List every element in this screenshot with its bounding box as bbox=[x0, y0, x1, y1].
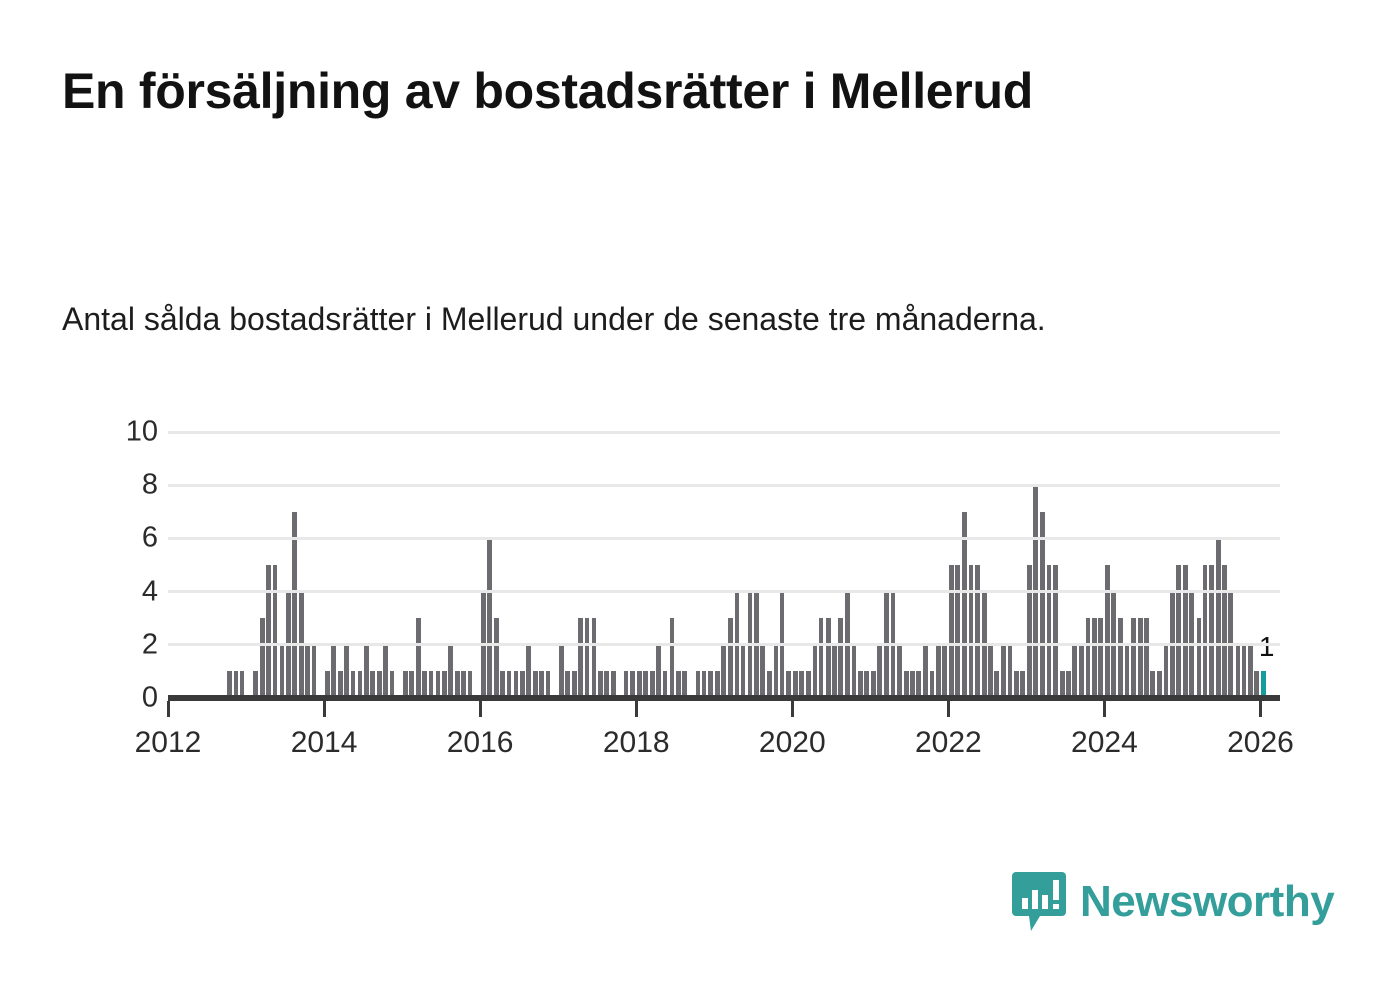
bar bbox=[312, 645, 317, 698]
bar bbox=[858, 671, 863, 698]
bar bbox=[1228, 592, 1233, 698]
gridline bbox=[168, 484, 1280, 487]
bar bbox=[338, 671, 343, 698]
bar bbox=[650, 671, 655, 698]
bar bbox=[930, 671, 935, 698]
bar-chart-speech-bubble-icon bbox=[1012, 872, 1066, 932]
x-axis-tick bbox=[635, 701, 638, 717]
bar bbox=[559, 645, 564, 698]
bar bbox=[845, 592, 850, 698]
bar bbox=[826, 618, 831, 698]
bar bbox=[682, 671, 687, 698]
bar bbox=[852, 645, 857, 698]
bar bbox=[1157, 671, 1162, 698]
x-axis-tick-label: 2020 bbox=[759, 728, 826, 758]
bar bbox=[507, 671, 512, 698]
bar bbox=[409, 671, 414, 698]
bar bbox=[273, 565, 278, 698]
bar bbox=[358, 671, 363, 698]
y-axis-tick-label: 2 bbox=[88, 630, 158, 659]
bar bbox=[370, 671, 375, 698]
bar bbox=[299, 592, 304, 698]
bar bbox=[910, 671, 915, 698]
bar bbox=[260, 618, 265, 698]
x-axis-tick bbox=[167, 701, 170, 717]
bar bbox=[514, 671, 519, 698]
bar bbox=[305, 645, 310, 698]
bar bbox=[748, 592, 753, 698]
x-axis-tick-label: 2024 bbox=[1071, 728, 1138, 758]
bar bbox=[546, 671, 551, 698]
bar bbox=[663, 671, 668, 698]
bar bbox=[637, 671, 642, 698]
bar bbox=[572, 671, 577, 698]
bar bbox=[1144, 618, 1149, 698]
bar-highlighted bbox=[1261, 671, 1266, 698]
bar bbox=[234, 671, 239, 698]
bar bbox=[676, 671, 681, 698]
bar bbox=[806, 671, 811, 698]
bar bbox=[643, 671, 648, 698]
bar bbox=[253, 671, 258, 698]
x-axis-tick bbox=[323, 701, 326, 717]
gridline bbox=[168, 590, 1280, 593]
bar bbox=[1138, 618, 1143, 698]
bar bbox=[461, 671, 466, 698]
bar bbox=[774, 645, 779, 698]
bar bbox=[390, 671, 395, 698]
bar bbox=[1170, 592, 1175, 698]
page-title: En försäljning av bostadsrätter i Meller… bbox=[62, 62, 1132, 121]
bar bbox=[442, 671, 447, 698]
x-axis-tick bbox=[947, 701, 950, 717]
bar bbox=[1131, 618, 1136, 698]
bar bbox=[280, 645, 285, 698]
x-axis-tick-label: 2026 bbox=[1227, 728, 1294, 758]
bar bbox=[487, 538, 492, 698]
x-axis-tick bbox=[1259, 701, 1262, 717]
bar bbox=[227, 671, 232, 698]
bar bbox=[871, 671, 876, 698]
bar bbox=[994, 671, 999, 698]
x-axis-tick bbox=[791, 701, 794, 717]
bar bbox=[1105, 565, 1110, 698]
bar bbox=[702, 671, 707, 698]
bar bbox=[481, 592, 486, 698]
bar bbox=[500, 671, 505, 698]
bar bbox=[916, 671, 921, 698]
bar bbox=[656, 645, 661, 698]
bar bbox=[1183, 565, 1188, 698]
bar bbox=[429, 671, 434, 698]
bar bbox=[838, 618, 843, 698]
bar bbox=[1066, 671, 1071, 698]
x-axis-tick-label: 2014 bbox=[291, 728, 358, 758]
bar bbox=[468, 671, 473, 698]
bar bbox=[1189, 592, 1194, 698]
plot-area: 1 02468102012201420162018202020222024202… bbox=[168, 432, 1280, 698]
bar bbox=[754, 592, 759, 698]
y-axis-tick-label: 10 bbox=[88, 418, 158, 447]
bar bbox=[1008, 645, 1013, 698]
logo-wordmark: Newsworthy bbox=[1080, 880, 1334, 924]
bar bbox=[383, 645, 388, 698]
x-axis-tick bbox=[479, 701, 482, 717]
bar bbox=[897, 645, 902, 698]
bar bbox=[448, 645, 453, 698]
bar bbox=[1060, 671, 1065, 698]
bar bbox=[1086, 618, 1091, 698]
bar bbox=[1027, 565, 1032, 698]
bar bbox=[520, 671, 525, 698]
gridline bbox=[168, 537, 1280, 540]
bar bbox=[949, 565, 954, 698]
bar bbox=[864, 671, 869, 698]
bar bbox=[351, 671, 356, 698]
bar bbox=[962, 512, 967, 698]
bar bbox=[1150, 671, 1155, 698]
bar bbox=[325, 671, 330, 698]
page-subtitle: Antal sålda bostadsrätter i Mellerud und… bbox=[62, 298, 1307, 340]
bar bbox=[1164, 645, 1169, 698]
bar bbox=[988, 645, 993, 698]
bar bbox=[1047, 565, 1052, 698]
bar bbox=[416, 618, 421, 698]
bar bbox=[1111, 592, 1116, 698]
bar bbox=[819, 618, 824, 698]
bar bbox=[1216, 538, 1221, 698]
y-axis-tick-label: 4 bbox=[88, 577, 158, 606]
bar bbox=[403, 671, 408, 698]
bar-series: 1 bbox=[168, 432, 1280, 698]
bar bbox=[975, 565, 980, 698]
bar bbox=[266, 565, 271, 698]
bar bbox=[877, 645, 882, 698]
bar bbox=[741, 645, 746, 698]
y-axis-tick-label: 6 bbox=[88, 524, 158, 553]
bar bbox=[715, 671, 720, 698]
bar bbox=[891, 592, 896, 698]
bar bbox=[923, 645, 928, 698]
bar bbox=[786, 671, 791, 698]
bar bbox=[1079, 645, 1084, 698]
bar bbox=[1053, 565, 1058, 698]
bar bbox=[526, 645, 531, 698]
bar bbox=[813, 645, 818, 698]
bar-chart: 1 02468102012201420162018202020222024202… bbox=[0, 0, 1382, 999]
bar bbox=[1222, 565, 1227, 698]
bar bbox=[455, 671, 460, 698]
bar bbox=[377, 671, 382, 698]
bar bbox=[240, 671, 245, 698]
bar bbox=[630, 671, 635, 698]
bar bbox=[942, 645, 947, 698]
x-axis-tick-label: 2012 bbox=[135, 728, 202, 758]
bar bbox=[344, 645, 349, 698]
bar bbox=[592, 618, 597, 698]
x-axis-tick-label: 2018 bbox=[603, 728, 670, 758]
bar bbox=[364, 645, 369, 698]
bar bbox=[565, 671, 570, 698]
bar bbox=[292, 512, 297, 698]
bar bbox=[494, 618, 499, 698]
bar bbox=[735, 592, 740, 698]
bar-value-label: 1 bbox=[1259, 633, 1275, 661]
bar bbox=[1236, 645, 1241, 698]
bar bbox=[793, 671, 798, 698]
bar bbox=[670, 618, 675, 698]
bar bbox=[598, 671, 603, 698]
bar bbox=[1020, 671, 1025, 698]
bar bbox=[1098, 618, 1103, 698]
x-axis-tick-label: 2022 bbox=[915, 728, 982, 758]
bar bbox=[331, 645, 336, 698]
bar bbox=[969, 565, 974, 698]
bar bbox=[624, 671, 629, 698]
bar bbox=[936, 645, 941, 698]
bar bbox=[780, 592, 785, 698]
bar bbox=[832, 645, 837, 698]
bar bbox=[1092, 618, 1097, 698]
x-axis-line bbox=[168, 695, 1280, 701]
bar bbox=[1248, 645, 1253, 698]
bar bbox=[904, 671, 909, 698]
bar bbox=[1197, 618, 1202, 698]
bar bbox=[1203, 565, 1208, 698]
bar bbox=[1040, 512, 1045, 698]
bar bbox=[533, 671, 538, 698]
gridline bbox=[168, 643, 1280, 646]
bar bbox=[1254, 671, 1259, 698]
newsworthy-logo: Newsworthy bbox=[1012, 872, 1334, 932]
bar bbox=[1014, 671, 1019, 698]
y-axis-tick-label: 0 bbox=[88, 684, 158, 713]
bar bbox=[767, 671, 772, 698]
y-axis-tick-label: 8 bbox=[88, 471, 158, 500]
bar bbox=[1072, 645, 1077, 698]
bar bbox=[1176, 565, 1181, 698]
bar bbox=[1001, 645, 1006, 698]
bar bbox=[982, 592, 987, 698]
x-axis-tick-label: 2016 bbox=[447, 728, 514, 758]
bar bbox=[1209, 565, 1214, 698]
bar bbox=[539, 671, 544, 698]
bar bbox=[1125, 645, 1130, 698]
bar bbox=[721, 645, 726, 698]
bar bbox=[799, 671, 804, 698]
bar bbox=[1242, 645, 1247, 698]
bar bbox=[884, 592, 889, 698]
x-axis-tick bbox=[1103, 701, 1106, 717]
bar bbox=[955, 565, 960, 698]
bar bbox=[611, 671, 616, 698]
infographic-page: En försäljning av bostadsrätter i Meller… bbox=[0, 0, 1382, 999]
bar bbox=[436, 671, 441, 698]
bar bbox=[1033, 485, 1038, 698]
bar bbox=[696, 671, 701, 698]
bar bbox=[585, 618, 590, 698]
gridline bbox=[168, 431, 1280, 434]
bar bbox=[422, 671, 427, 698]
bar bbox=[286, 592, 291, 698]
bar bbox=[1118, 618, 1123, 698]
bar bbox=[604, 671, 609, 698]
bar bbox=[760, 645, 765, 698]
bar bbox=[728, 618, 733, 698]
bar bbox=[708, 671, 713, 698]
bar bbox=[578, 618, 583, 698]
